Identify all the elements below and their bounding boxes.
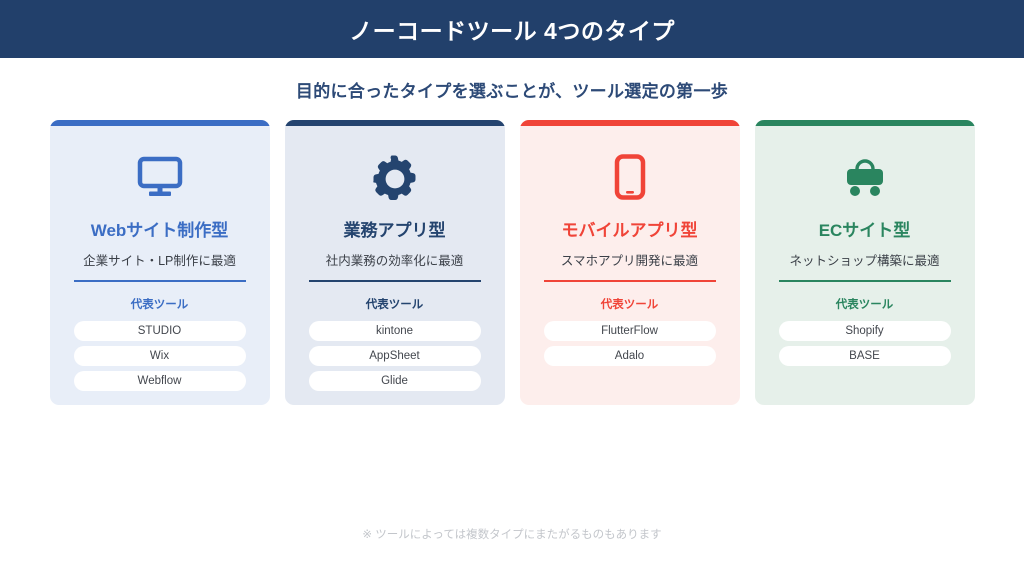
card-title: 業務アプリ型	[344, 216, 446, 241]
monitor-icon	[137, 148, 183, 206]
card-title: Webサイト制作型	[91, 216, 229, 241]
card-title: モバイルアプリ型	[562, 216, 698, 241]
page-title: ノーコードツール 4つのタイプ	[349, 12, 675, 46]
card-title: ECサイト型	[819, 216, 911, 241]
card-accent-bar	[520, 120, 740, 126]
slide-root: ノーコードツール 4つのタイプ 目的に合ったタイプを選ぶことが、ツール選定の第一…	[0, 0, 1024, 576]
tool-pill[interactable]: BASE	[779, 346, 951, 366]
tool-pill[interactable]: kintone	[309, 321, 481, 341]
tools-label: 代表ツール	[601, 296, 659, 312]
card-ec-site[interactable]: ECサイト型ネットショップ構築に最適代表ツールShopifyBASE	[755, 120, 975, 405]
tool-list: FlutterFlowAdalo	[544, 321, 716, 366]
tools-label: 代表ツール	[836, 296, 894, 312]
card-description: 企業サイト・LP制作に最適	[83, 250, 236, 269]
card-description: スマホアプリ開発に最適	[561, 250, 698, 269]
smartphone-icon	[614, 148, 646, 206]
card-accent-bar	[50, 120, 270, 126]
shopping-cart-icon	[841, 148, 889, 206]
footnote: ※ ツールによっては複数タイプにまたがるものもあります	[0, 526, 1024, 542]
tool-pill[interactable]: Wix	[74, 346, 246, 366]
gear-icon	[372, 148, 418, 206]
card-divider	[309, 280, 481, 282]
header-bar: ノーコードツール 4つのタイプ	[0, 0, 1024, 58]
card-divider	[779, 280, 951, 282]
card-description: ネットショップ構築に最適	[789, 250, 939, 269]
card-divider	[74, 280, 246, 282]
tool-list: STUDIOWixWebflow	[74, 321, 246, 391]
card-accent-bar	[285, 120, 505, 126]
subtitle: 目的に合ったタイプを選ぶことが、ツール選定の第一歩	[0, 77, 1024, 102]
card-description: 社内業務の効率化に最適	[326, 250, 464, 269]
tool-list: ShopifyBASE	[779, 321, 951, 366]
card-row: Webサイト制作型企業サイト・LP制作に最適代表ツールSTUDIOWixWebf…	[0, 120, 1024, 405]
card-divider	[544, 280, 716, 282]
card-web-site[interactable]: Webサイト制作型企業サイト・LP制作に最適代表ツールSTUDIOWixWebf…	[50, 120, 270, 405]
tool-pill[interactable]: Shopify	[779, 321, 951, 341]
tool-pill[interactable]: Webflow	[74, 371, 246, 391]
tools-label: 代表ツール	[366, 296, 424, 312]
tool-pill[interactable]: Glide	[309, 371, 481, 391]
tool-pill[interactable]: STUDIO	[74, 321, 246, 341]
tool-pill[interactable]: AppSheet	[309, 346, 481, 366]
tool-list: kintoneAppSheetGlide	[309, 321, 481, 391]
card-accent-bar	[755, 120, 975, 126]
tool-pill[interactable]: FlutterFlow	[544, 321, 716, 341]
card-mobile-app[interactable]: モバイルアプリ型スマホアプリ開発に最適代表ツールFlutterFlowAdalo	[520, 120, 740, 405]
tool-pill[interactable]: Adalo	[544, 346, 716, 366]
tools-label: 代表ツール	[131, 296, 189, 312]
card-business-app[interactable]: 業務アプリ型社内業務の効率化に最適代表ツールkintoneAppSheetGli…	[285, 120, 505, 405]
